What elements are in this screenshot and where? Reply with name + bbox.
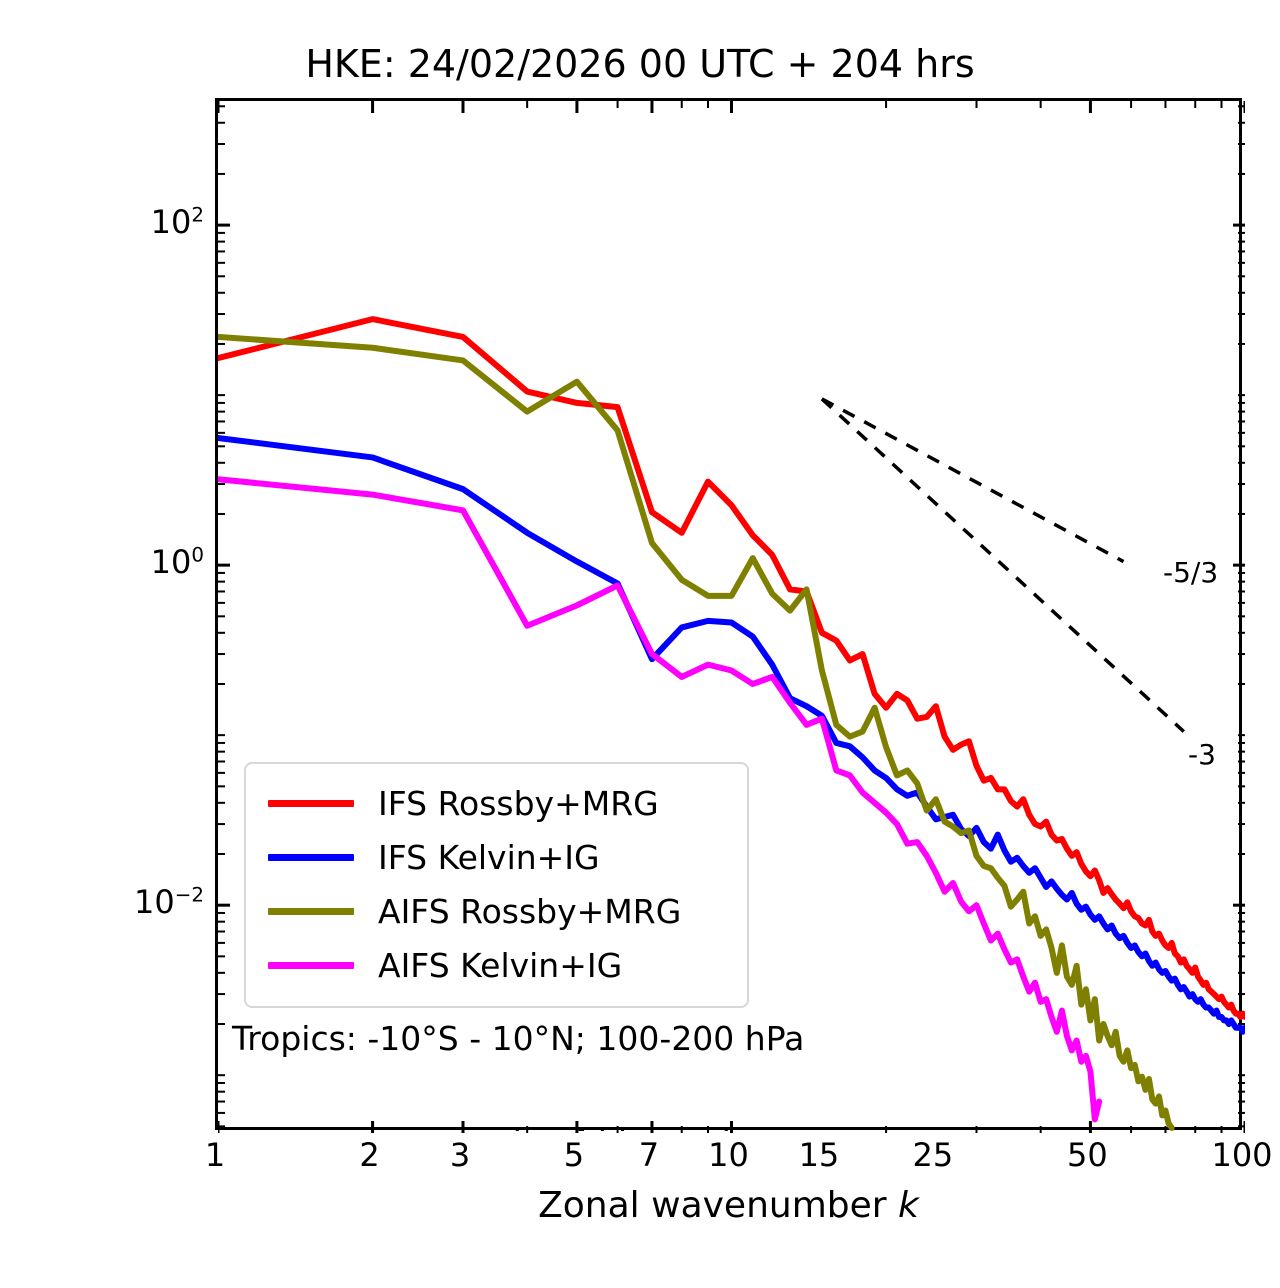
legend-color-swatch [268, 908, 354, 915]
legend-box: IFS Rossby+MRGIFS Kelvin+IGAIFS Rossby+M… [244, 762, 749, 1008]
legend-color-swatch [268, 800, 354, 807]
legend-item-label: IFS Kelvin+IG [378, 838, 600, 877]
x-tick-label: 100 [1211, 1136, 1272, 1174]
legend-color-swatch [268, 854, 354, 861]
x-tick-label: 3 [450, 1136, 470, 1174]
y-axis-label: Horizontal kinetic energy J/kg [62, 98, 96, 1130]
legend-item[interactable]: AIFS Kelvin+IG [246, 938, 747, 992]
region-annotation: Tropics: -10°S - 10°N; 100-200 hPa [232, 1019, 804, 1058]
slope-annotation-5-3: -5/3 [1163, 556, 1218, 589]
figure-canvas: HKE: 24/02/2026 00 UTC + 204 hrs Horizon… [0, 0, 1280, 1288]
x-tick-label: 7 [639, 1136, 659, 1174]
x-tick-label: 25 [912, 1136, 953, 1174]
legend-item[interactable]: IFS Rossby+MRG [246, 776, 747, 830]
x-axis-label: Zonal wavenumber k [215, 1185, 1242, 1226]
x-tick-label: 2 [359, 1136, 379, 1174]
legend-item[interactable]: AIFS Rossby+MRG [246, 884, 747, 938]
y-tick-label-group: 10210010−2 [100, 0, 204, 1288]
x-tick-label: 50 [1067, 1136, 1108, 1174]
x-tick-label: 15 [799, 1136, 840, 1174]
x-tick-label: 5 [564, 1136, 584, 1174]
legend-item[interactable]: IFS Kelvin+IG [246, 830, 747, 884]
legend-item-label: IFS Rossby+MRG [378, 784, 659, 823]
y-tick-label: 102 [151, 203, 204, 241]
x-tick-label: 10 [708, 1136, 749, 1174]
legend-color-swatch [268, 962, 354, 969]
x-axis-label-symbol: k [898, 1185, 919, 1226]
legend-item-label: AIFS Kelvin+IG [378, 946, 622, 985]
y-tick-label: 100 [151, 543, 204, 581]
x-axis-label-text: Zonal wavenumber [538, 1185, 886, 1226]
slope-annotation-3: -3 [1188, 738, 1216, 771]
legend-item-label: AIFS Rossby+MRG [378, 892, 681, 931]
reference-slope-line [822, 399, 1184, 732]
x-tick-label: 1 [205, 1136, 225, 1174]
y-tick-label: 10−2 [134, 883, 204, 921]
